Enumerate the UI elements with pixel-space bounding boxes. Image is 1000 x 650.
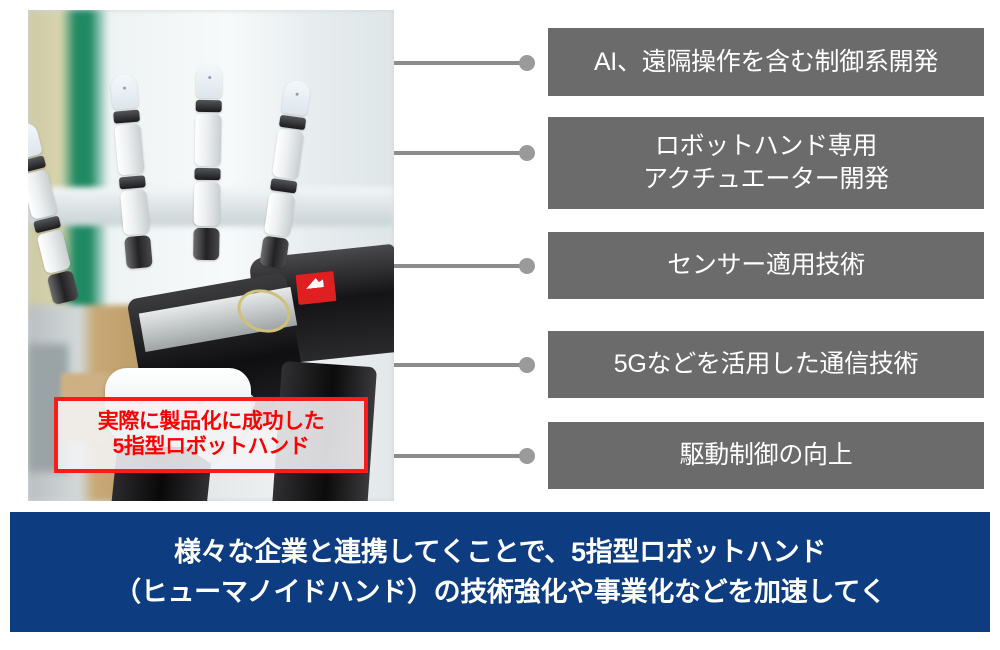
finger-base-segment — [193, 182, 220, 226]
tech-box-1-label: AI、遠隔操作を含む制御系開発 — [594, 46, 938, 79]
summary-banner: 様々な企業と連携してくことで、5指型ロボットハンド （ヒューマノイドハンド）の技… — [10, 512, 990, 632]
finger-knuckle — [195, 100, 221, 112]
tech-box-1[interactable]: AI、遠隔操作を含む制御系開発 — [548, 28, 984, 96]
finger-base-segment — [263, 192, 295, 237]
finger-middle-segment — [194, 114, 221, 166]
finger-base-joint — [193, 228, 220, 260]
tech-box-5-label: 駆動制御の向上 — [680, 439, 853, 472]
summary-banner-line1: 様々な企業と連携してくことで、5指型ロボットハンド — [174, 532, 826, 573]
finger-knuckle — [119, 175, 146, 189]
tech-box-2-label: ロボットハンド専用 アクチュエーター開発 — [643, 130, 889, 196]
manufacturer-logo-badge — [296, 271, 337, 305]
finger-base-segment — [120, 189, 150, 235]
connector-line — [394, 151, 527, 155]
photo-caption-box: 実際に製品化に成功した 5指型ロボットハンド — [54, 397, 368, 473]
finger-base-joint — [124, 235, 153, 269]
finger-base-joint — [259, 235, 289, 268]
tech-box-3-label: センサー適用技術 — [667, 249, 865, 282]
robot-finger-ring — [193, 64, 222, 262]
finger-knuckle — [270, 178, 297, 194]
finger-tip — [280, 79, 310, 116]
finger-knuckle — [194, 168, 220, 180]
connector-dot — [519, 357, 535, 373]
connector-line — [394, 61, 527, 65]
tech-box-3[interactable]: センサー適用技術 — [548, 232, 984, 299]
tech-box-4-label: 5Gなどを活用した通信技術 — [614, 348, 918, 381]
finger-tip — [196, 64, 223, 98]
tech-box-5[interactable]: 駆動制御の向上 — [548, 422, 984, 489]
connector-line — [394, 454, 527, 458]
tech-box-4[interactable]: 5Gなどを活用した通信技術 — [548, 331, 984, 398]
finger-knuckle — [113, 109, 140, 123]
connector-dot — [519, 145, 535, 161]
connector-dot — [519, 258, 535, 274]
connector-dot — [519, 55, 535, 71]
photo-caption-line1: 実際に製品化に成功した — [98, 410, 325, 435]
robot-hand-photo: 実際に製品化に成功した 5指型ロボットハンド — [28, 10, 394, 501]
finger-middle-segment — [114, 123, 144, 175]
photo-caption-line2: 5指型ロボットハンド — [113, 435, 310, 460]
finger-tip — [110, 73, 139, 109]
summary-banner-line2: （ヒューマノイドハンド）の技術強化や事業化などを加速してく — [114, 572, 886, 613]
connector-line — [394, 264, 527, 268]
connector-line — [394, 363, 527, 367]
connector-dot — [519, 448, 535, 464]
finger-knuckle — [278, 114, 305, 130]
tech-box-2[interactable]: ロボットハンド専用 アクチュエーター開発 — [548, 117, 984, 209]
